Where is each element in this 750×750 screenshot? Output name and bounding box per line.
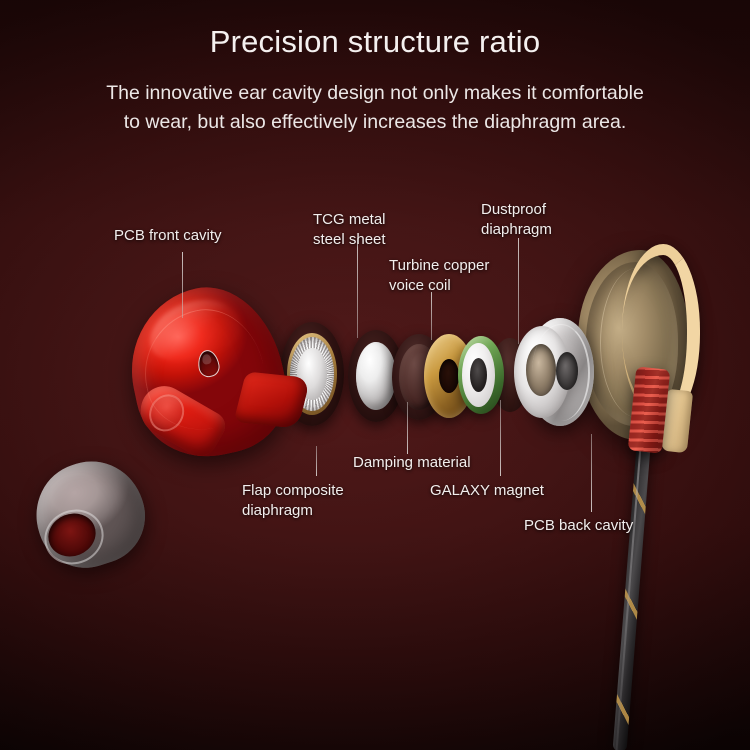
dustproof-bore xyxy=(470,358,487,392)
subtitle-line-2: to wear, but also effectively increases … xyxy=(0,108,750,138)
leader-line-turbine-copper-voice-coil xyxy=(431,292,432,340)
voice-coil-bore xyxy=(439,359,459,393)
leader-line-flap-composite-diaphragm xyxy=(316,446,317,476)
callout-pcb-front-cavity: PCB front cavity xyxy=(114,226,222,245)
strain-relief-ribs xyxy=(628,366,671,453)
callout-tcg-metal-steel-sheet-line-2: steel sheet xyxy=(313,230,386,250)
callout-damping-material-line-1: Damping material xyxy=(353,453,471,472)
callout-pcb-back-cavity: PCB back cavity xyxy=(524,516,633,535)
callout-tcg-metal-steel-sheet-line-1: TCG metal xyxy=(313,210,386,230)
leader-line-damping-material xyxy=(407,402,408,454)
subtitle-line-1: The innovative ear cavity design not onl… xyxy=(0,79,750,109)
callout-flap-composite-diaphragm-line-2: diaphragm xyxy=(242,501,344,521)
callout-turbine-copper-voice-coil-line-1: Turbine copper xyxy=(389,256,489,276)
callout-turbine-copper-voice-coil-line-2: voice coil xyxy=(389,276,489,296)
callout-tcg-metal-steel-sheet: TCG metal steel sheet xyxy=(313,210,386,249)
callout-flap-composite-diaphragm: Flap composite diaphragm xyxy=(242,481,344,520)
steel-sheet-face xyxy=(356,342,396,410)
header: Precision structure ratio The innovative… xyxy=(0,0,750,138)
magnet-rim-highlight xyxy=(532,324,590,421)
callout-dustproof-diaphragm-line-1: Dustproof xyxy=(481,200,552,220)
leader-line-tcg-metal-steel-sheet xyxy=(357,238,358,338)
callout-galaxy-magnet-line-1: GALAXY magnet xyxy=(430,481,544,500)
callout-turbine-copper-voice-coil: Turbine copper voice coil xyxy=(389,256,489,295)
callout-galaxy-magnet: GALAXY magnet xyxy=(430,481,544,500)
leader-line-pcb-back-cavity xyxy=(591,434,592,512)
page-title: Precision structure ratio xyxy=(0,0,750,60)
product-infographic: Precision structure ratio The innovative… xyxy=(0,0,750,750)
callout-pcb-front-cavity-line-1: PCB front cavity xyxy=(114,226,222,245)
leader-line-pcb-front-cavity xyxy=(182,252,183,318)
callout-dustproof-diaphragm: Dustproof diaphragm xyxy=(481,200,552,239)
strain-relief-part xyxy=(632,368,672,456)
callout-pcb-back-cavity-line-1: PCB back cavity xyxy=(524,516,633,535)
callout-damping-material: Damping material xyxy=(353,453,471,472)
braided-cable xyxy=(613,439,651,750)
leader-line-dustproof-diaphragm xyxy=(518,238,519,344)
dustproof-diaphragm-part xyxy=(458,336,504,414)
ear-tip-part xyxy=(36,462,148,574)
leader-line-galaxy-magnet xyxy=(500,400,501,476)
callout-flap-composite-diaphragm-line-1: Flap composite xyxy=(242,481,344,501)
page-subtitle: The innovative ear cavity design not onl… xyxy=(0,60,750,139)
callout-dustproof-diaphragm-line-2: diaphragm xyxy=(481,220,552,240)
pcb-front-cavity-part xyxy=(132,288,308,470)
